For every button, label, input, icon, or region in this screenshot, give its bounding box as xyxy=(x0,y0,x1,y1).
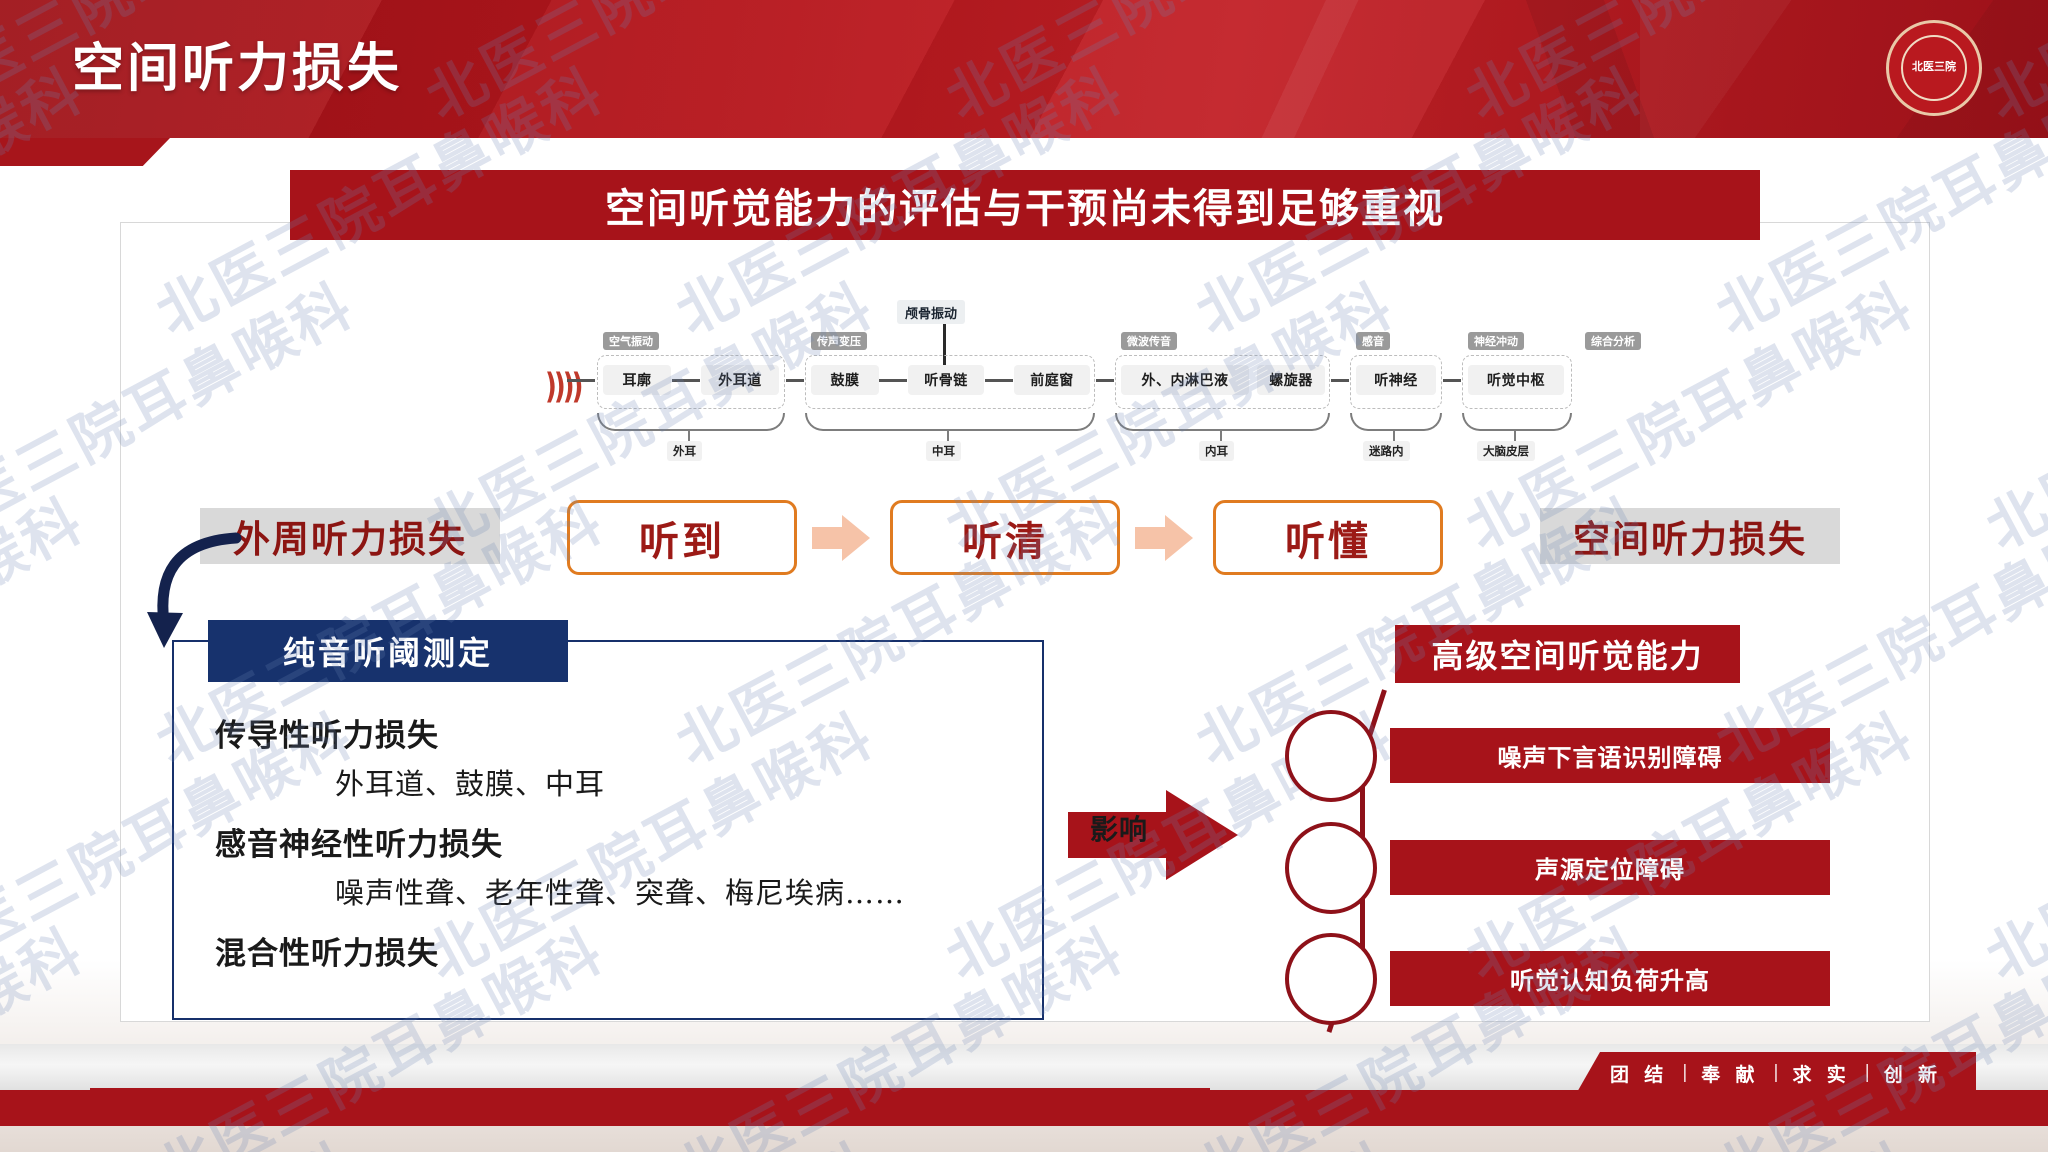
flow-tag-5: 综合分析 xyxy=(1585,332,1641,350)
sound-wave-icon: )))) xyxy=(545,367,581,408)
hospital-logo-icon: 北医三院 xyxy=(1886,20,1982,116)
flow-connector xyxy=(879,379,907,382)
flow-connector xyxy=(567,379,595,382)
flow-zone-0: 外耳 xyxy=(667,441,702,461)
ring-marker-2 xyxy=(1285,822,1377,914)
header-facet-3 xyxy=(1640,0,2048,138)
footer-motto-badge: 团 结 | 奉 献 | 求 实 | 创 新 xyxy=(1576,1052,1976,1094)
flow-brace xyxy=(1462,413,1572,431)
watermark-text: 北医三院耳鼻喉科 xyxy=(1969,688,2048,995)
hearing-loss-type-list: 传导性听力损失 外耳道、鼓膜、中耳 感音神经性听力损失 噪声性聋、老年性聋、突聋… xyxy=(215,710,1015,979)
curved-arrow-icon xyxy=(140,520,250,660)
list-item: 混合性听力损失 xyxy=(215,928,1015,973)
spatial-hearing-loss-label: 空间听力损失 xyxy=(1540,508,1840,564)
flow-connector xyxy=(1331,379,1349,382)
hearing-pathway-diagram: )))) 颅骨振动 空气振动 传声变压 微波传音 感音 神经冲动 综合分析 耳廓… xyxy=(545,300,1485,490)
flow-tag-3: 感音 xyxy=(1356,332,1390,350)
flow-skull-label: 颅骨振动 xyxy=(897,300,965,324)
flow-zone-3: 迷路内 xyxy=(1363,441,1410,461)
step-arrow-icon-1 xyxy=(812,515,870,561)
flow-brace-tick xyxy=(1220,429,1222,441)
footer-motto-1: 奉 献 xyxy=(1701,1060,1759,1087)
advanced-spatial-hearing-title: 高级空间听觉能力 xyxy=(1395,625,1740,683)
symptom-bar-2: 声源定位障碍 xyxy=(1390,840,1830,895)
flow-zone-1: 中耳 xyxy=(926,441,961,461)
header-facet-1 xyxy=(1180,0,1440,138)
footer-rule xyxy=(90,1088,1210,1092)
flow-node-2: 鼓膜 xyxy=(811,365,879,395)
flow-brace-tick xyxy=(947,429,949,441)
flow-brace xyxy=(1350,413,1442,431)
flow-tag-2: 微波传音 xyxy=(1121,332,1177,350)
flow-connector xyxy=(1443,379,1461,382)
flow-node-7: 听神经 xyxy=(1356,365,1436,395)
flow-brace xyxy=(597,413,785,431)
ring-marker-3 xyxy=(1285,933,1377,1025)
flow-brace xyxy=(805,413,1095,431)
footer-separator: | xyxy=(1774,1062,1779,1084)
flow-node-3: 听骨链 xyxy=(908,365,984,395)
flow-tag-1: 传声变压 xyxy=(811,332,867,350)
list-item-detail: 噪声性聋、老年性聋、突聋、梅尼埃病…… xyxy=(335,870,1015,912)
footer-motto-0: 团 结 xyxy=(1610,1060,1668,1087)
flow-connector xyxy=(672,379,700,382)
page-title: 空间听力损失 xyxy=(72,26,402,101)
symptom-bar-1: 噪声下言语识别障碍 xyxy=(1390,728,1830,783)
list-item: 传导性听力损失 xyxy=(215,710,1015,755)
list-item-detail: 外耳道、鼓膜、中耳 xyxy=(335,761,1015,803)
step-box-understand[interactable]: 听懂 xyxy=(1213,500,1443,575)
flow-brace-tick xyxy=(1393,429,1395,441)
step-box-hear[interactable]: 听到 xyxy=(567,500,797,575)
pure-tone-audiometry-tab: 纯音听阈测定 xyxy=(208,620,568,682)
flow-tag-0: 空气振动 xyxy=(603,332,659,350)
flow-node-0: 耳廓 xyxy=(603,365,671,395)
flow-node-4: 前庭窗 xyxy=(1014,365,1090,395)
flow-node-5: 外、内淋巴液 xyxy=(1121,365,1249,395)
flow-brace-tick xyxy=(688,429,690,441)
flow-connector xyxy=(1096,379,1114,382)
flow-connector xyxy=(786,379,804,382)
footer-separator: | xyxy=(1865,1062,1870,1084)
flow-node-8: 听觉中枢 xyxy=(1468,365,1564,395)
watermark-text: 北医三院耳鼻喉科 xyxy=(1969,258,2048,565)
flow-brace xyxy=(1115,413,1330,431)
section-banner-text: 空间听觉能力的评估与干预尚未得到足够重视 xyxy=(605,176,1445,234)
slide-canvas: 空间听力损失 北医三院 空间听觉能力的评估与干预尚未得到足够重视 )))) 颅骨… xyxy=(0,0,2048,1152)
flow-tag-4: 神经冲动 xyxy=(1468,332,1524,350)
flow-node-1: 外耳道 xyxy=(701,365,779,395)
symptom-bar-3: 听觉认知负荷升高 xyxy=(1390,951,1830,1006)
footer-red-bar xyxy=(0,1090,2048,1126)
list-item: 感音神经性听力损失 xyxy=(215,819,1015,864)
watermark-text: 北医三院耳鼻喉科 xyxy=(0,473,97,780)
flow-brace-tick xyxy=(1514,429,1516,441)
slide-header: 空间听力损失 xyxy=(0,0,2048,138)
flow-node-6: 螺旋器 xyxy=(1257,365,1325,395)
footer-motto-2: 求 实 xyxy=(1792,1060,1850,1087)
step-arrow-icon-2 xyxy=(1135,515,1193,561)
footer-separator: | xyxy=(1682,1062,1687,1084)
step-box-hear-clearly[interactable]: 听清 xyxy=(890,500,1120,575)
flow-connector xyxy=(985,379,1013,382)
flow-zone-2: 内耳 xyxy=(1199,441,1234,461)
hospital-logo-label: 北医三院 xyxy=(1901,35,1967,101)
section-banner: 空间听觉能力的评估与干预尚未得到足够重视 xyxy=(290,170,1760,240)
flow-zone-4: 大脑皮层 xyxy=(1477,441,1535,461)
header-notch xyxy=(0,138,170,166)
impact-label: 影响 xyxy=(1090,808,1148,848)
ring-marker-1 xyxy=(1285,710,1377,802)
footer-motto-3: 创 新 xyxy=(1884,1060,1942,1087)
